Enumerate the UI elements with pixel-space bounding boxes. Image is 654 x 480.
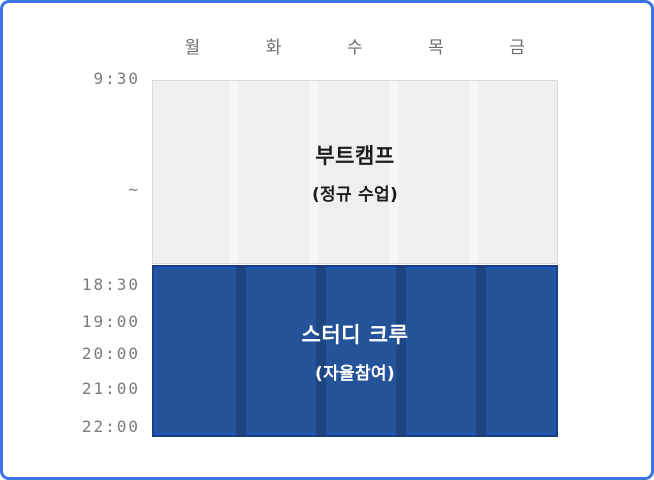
block-text-group: 부트캠프 (정규 수업) (153, 81, 557, 263)
day-header-label: 목 (428, 33, 444, 58)
day-header-label: 수 (347, 33, 363, 58)
time-tick-2200: 22:00 (0, 417, 140, 436)
time-axis: 9:30 ~ 18:30 19:00 20:00 21:00 22:00 (0, 0, 140, 480)
schedule-block-study-crew[interactable]: 스터디 크루 (자율참여) (152, 265, 558, 437)
time-tick-1900: 19:00 (0, 312, 140, 331)
day-header-label: 월 (185, 33, 201, 58)
day-header-thu: 목 (396, 30, 477, 60)
day-header-label: 화 (266, 33, 282, 58)
time-tick-0930: 9:30 (0, 69, 140, 88)
day-header-wed: 수 (314, 30, 395, 60)
day-header-row: 월 화 수 목 금 (152, 30, 558, 60)
block-title: 부트캠프 (315, 140, 394, 170)
day-header-mon: 월 (152, 30, 233, 60)
day-header-label: 금 (509, 33, 525, 58)
schedule-block-bootcamp[interactable]: 부트캠프 (정규 수업) (152, 80, 558, 264)
time-tick-range: ~ (0, 180, 140, 199)
day-header-fri: 금 (477, 30, 558, 60)
time-tick-1830: 18:30 (0, 275, 140, 294)
block-text-group: 스터디 크루 (자율참여) (154, 267, 556, 435)
block-subtitle: (정규 수업) (312, 180, 398, 205)
block-subtitle: (자율참여) (315, 359, 395, 384)
schedule-chart: 월 화 수 목 금 9:30 ~ 18:30 19:00 20:00 21:00… (0, 0, 654, 480)
day-header-tue: 화 (233, 30, 314, 60)
block-title: 스터디 크루 (302, 319, 409, 349)
time-tick-2000: 20:00 (0, 344, 140, 363)
time-tick-2100: 21:00 (0, 379, 140, 398)
